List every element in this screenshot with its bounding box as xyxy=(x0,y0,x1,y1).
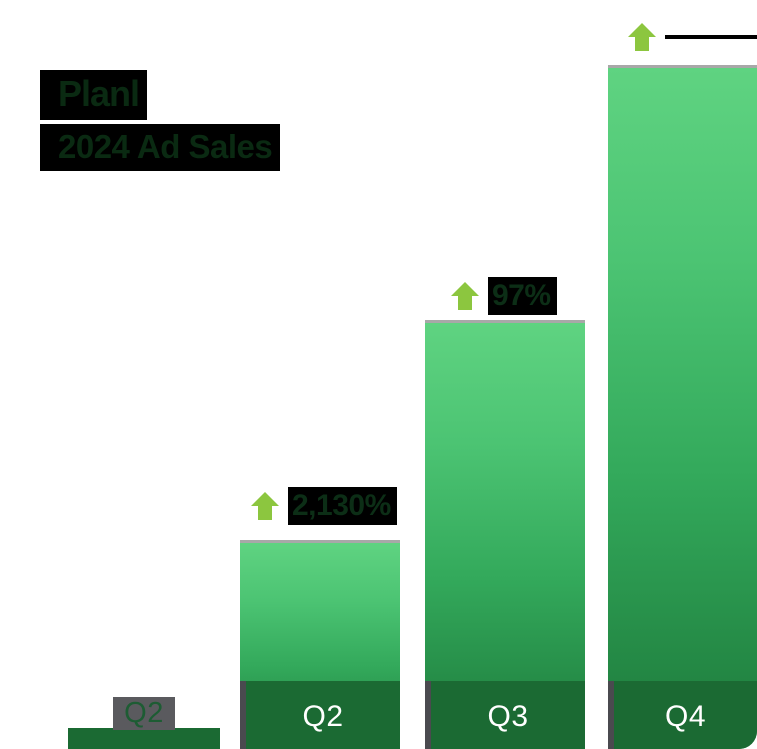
bar-foot-q4: Q4 xyxy=(608,681,757,749)
growth-value-q2: 2,130% xyxy=(288,487,397,525)
growth-badge-q2: 2,130% xyxy=(248,487,397,525)
axis-label-q3: Q3 xyxy=(487,702,528,732)
growth-badge-q4 xyxy=(625,18,757,56)
chart-subtitle: Planl xyxy=(40,70,147,120)
arrow-up-icon xyxy=(448,279,482,313)
bar-foot-q2: Q2 xyxy=(240,681,400,749)
ad-sales-bar-chart-card: Q2 Q3 Q4 Q2 Plan xyxy=(0,0,757,749)
axis-label-q1: Q2 xyxy=(113,697,175,730)
arrow-up-icon xyxy=(248,489,282,523)
growth-badge-q3: 97% xyxy=(448,277,557,315)
bar-q1[interactable] xyxy=(68,728,220,749)
bar-fill-q4 xyxy=(608,68,757,749)
growth-value-q4 xyxy=(665,35,757,39)
bar-q4[interactable]: Q4 xyxy=(608,65,757,749)
page-title: 2024 Ad Sales xyxy=(40,124,280,171)
growth-value-q3: 97% xyxy=(488,277,557,315)
chart-title-block: Planl 2024 Ad Sales xyxy=(40,70,280,171)
bar-group-q4[interactable]: Q4 xyxy=(608,65,757,749)
arrow-up-icon xyxy=(625,20,659,54)
bar-group-q3[interactable]: Q3 xyxy=(425,320,585,749)
bar-foot-q3: Q3 xyxy=(425,681,585,749)
axis-label-q2: Q2 xyxy=(302,702,343,732)
bar-q2[interactable]: Q2 xyxy=(240,540,400,749)
bar-group-q2[interactable]: Q2 xyxy=(240,540,400,749)
axis-label-q1-text: Q2 xyxy=(124,699,164,728)
axis-label-q4: Q4 xyxy=(665,702,706,732)
bar-q3[interactable]: Q3 xyxy=(425,320,585,749)
